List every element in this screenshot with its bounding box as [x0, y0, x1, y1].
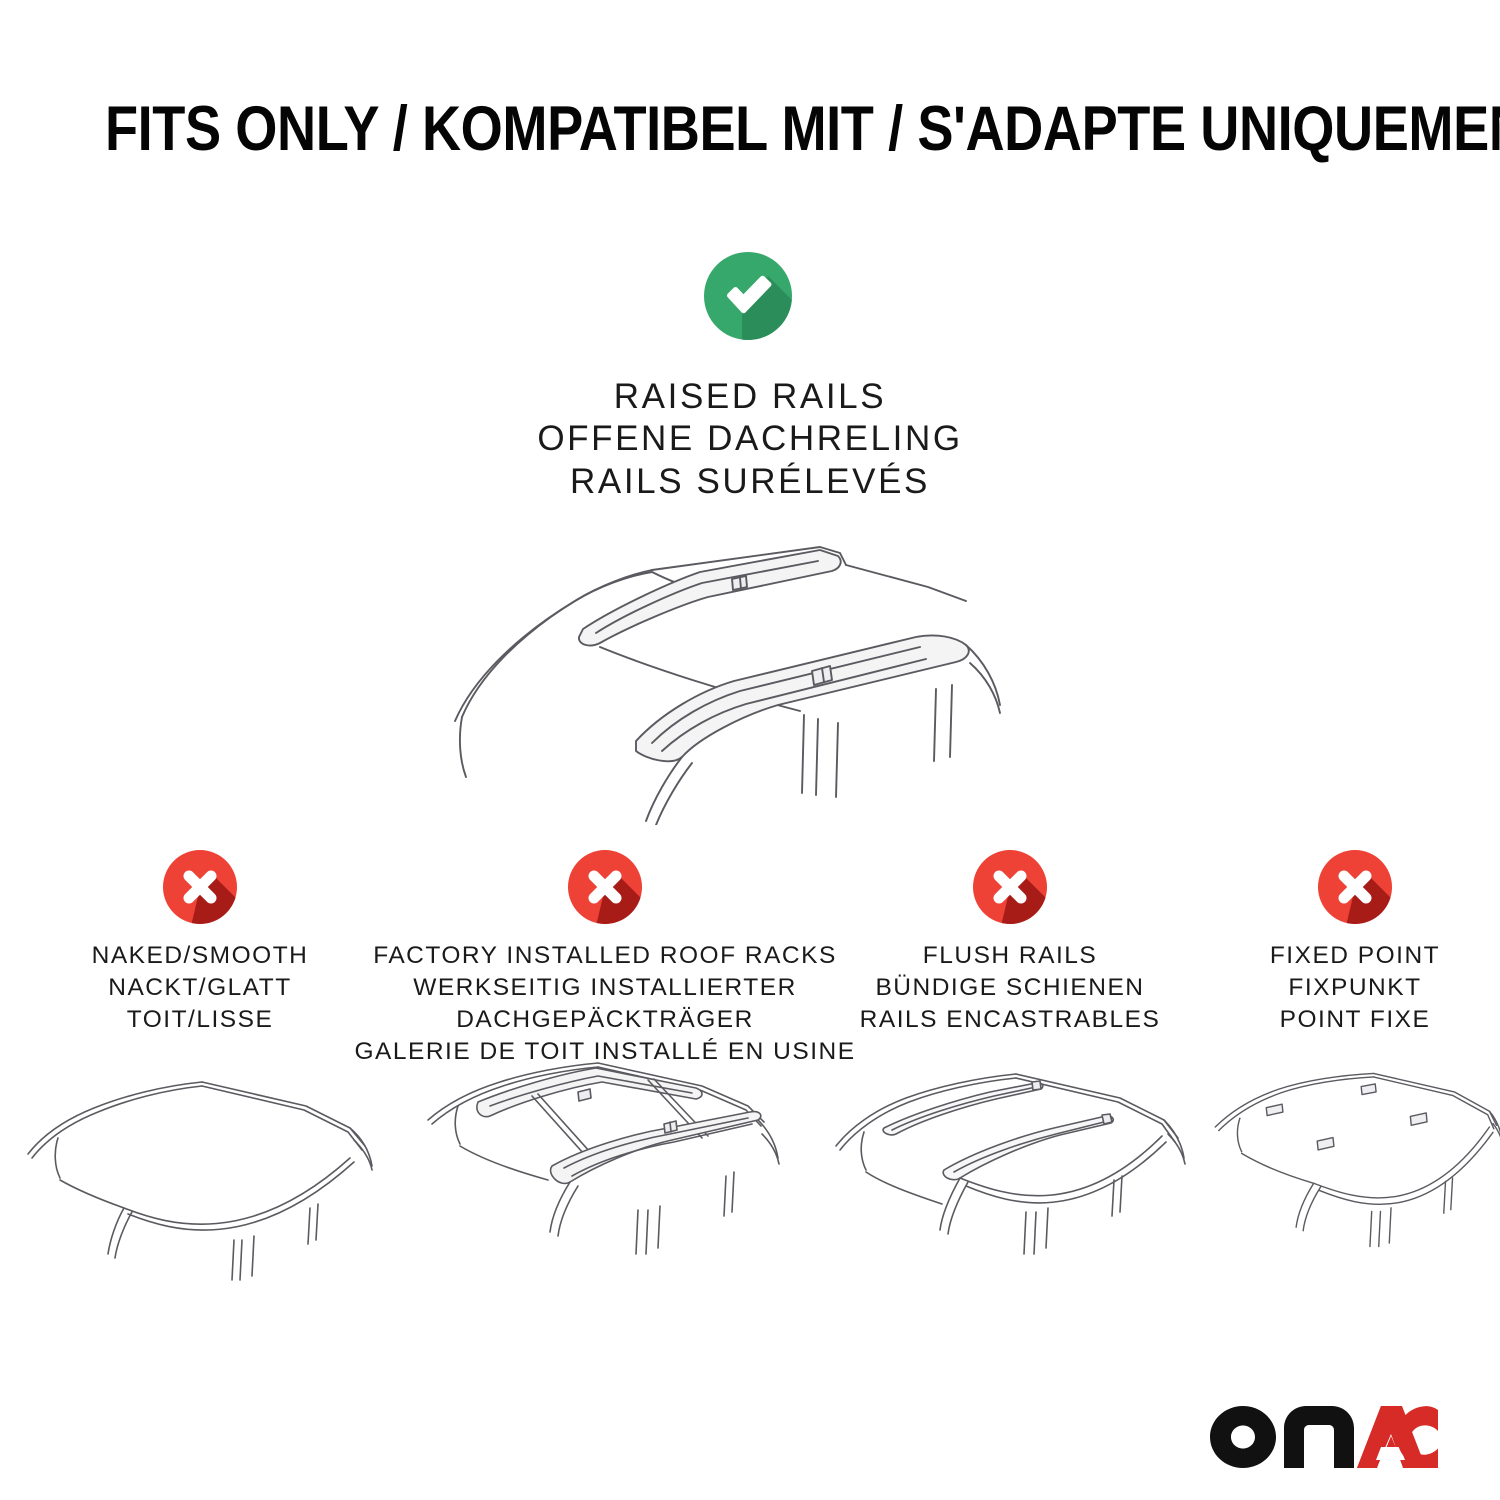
car-roof-flush-rails-diagram [810, 1058, 1210, 1298]
incompatible-label-flush-rails: FLUSH RAILS BÜNDIGE SCHIENEN RAILS ENCAS… [860, 940, 1161, 1036]
green-check-circle-icon [698, 248, 802, 352]
label-line: BÜNDIGE SCHIENEN [860, 972, 1161, 1004]
car-roof-raised-rails-diagram [400, 525, 1100, 825]
incompatible-section: NAKED/SMOOTH NACKT/GLATT TOIT/LISSE FACT… [0, 848, 1500, 1067]
label-line: DACHGEPÄCKTRÄGER [354, 1004, 855, 1036]
label-line: POINT FIXE [1270, 1004, 1440, 1036]
compatible-section: RAISED RAILS OFFENE DACHRELING RAILS SUR… [0, 248, 1500, 825]
label-line: NAKED/SMOOTH [92, 940, 309, 972]
label-line: FLUSH RAILS [860, 940, 1161, 972]
incompatible-item-fixed-point: FIXED POINT FIXPUNKT POINT FIXE [1210, 848, 1500, 1036]
incompatible-label-factory-installed-roof-racks: FACTORY INSTALLED ROOF RACKS WERKSEITIG … [354, 940, 855, 1067]
car-roof-fixed-point-diagram [1210, 1058, 1500, 1298]
label-line: WERKSEITIG INSTALLIERTER [354, 972, 855, 1004]
red-x-circle-icon [566, 848, 644, 926]
incompatible-item-naked-smooth: NAKED/SMOOTH NACKT/GLATT TOIT/LISSE [0, 848, 400, 1036]
page-header: FITS ONLY / KOMPATIBEL MIT / S'ADAPTE UN… [0, 98, 1500, 161]
compatible-label-line-1: RAISED RAILS [537, 376, 962, 418]
incompatible-label-naked-smooth: NAKED/SMOOTH NACKT/GLATT TOIT/LISSE [92, 940, 309, 1036]
incompatible-item-flush-rails: FLUSH RAILS BÜNDIGE SCHIENEN RAILS ENCAS… [810, 848, 1210, 1036]
car-roof-naked-smooth-diagram [0, 1058, 400, 1298]
label-line: NACKT/GLATT [92, 972, 309, 1004]
label-line: TOIT/LISSE [92, 1004, 309, 1036]
red-x-circle-icon [1316, 848, 1394, 926]
compatible-label-line-2: OFFENE DACHRELING [537, 418, 962, 460]
red-x-circle-icon [161, 848, 239, 926]
page-title: FITS ONLY / KOMPATIBEL MIT / S'ADAPTE UN… [105, 98, 1395, 161]
omac-logo [1210, 1402, 1438, 1468]
label-line: RAILS ENCASTRABLES [860, 1004, 1161, 1036]
incompatible-item-factory-installed-roof-racks: FACTORY INSTALLED ROOF RACKS WERKSEITIG … [400, 848, 810, 1067]
label-line: FACTORY INSTALLED ROOF RACKS [354, 940, 855, 972]
label-line: FIXED POINT [1270, 940, 1440, 972]
car-roof-factory-racks-diagram [400, 1058, 810, 1298]
red-x-circle-icon [971, 848, 1049, 926]
compatible-label: RAISED RAILS OFFENE DACHRELING RAILS SUR… [537, 376, 962, 503]
compatible-label-line-3: RAILS SURÉLEVÉS [537, 461, 962, 503]
label-line: FIXPUNKT [1270, 972, 1440, 1004]
incompatible-illustrations [0, 1058, 1500, 1298]
incompatible-label-fixed-point: FIXED POINT FIXPUNKT POINT FIXE [1270, 940, 1440, 1036]
